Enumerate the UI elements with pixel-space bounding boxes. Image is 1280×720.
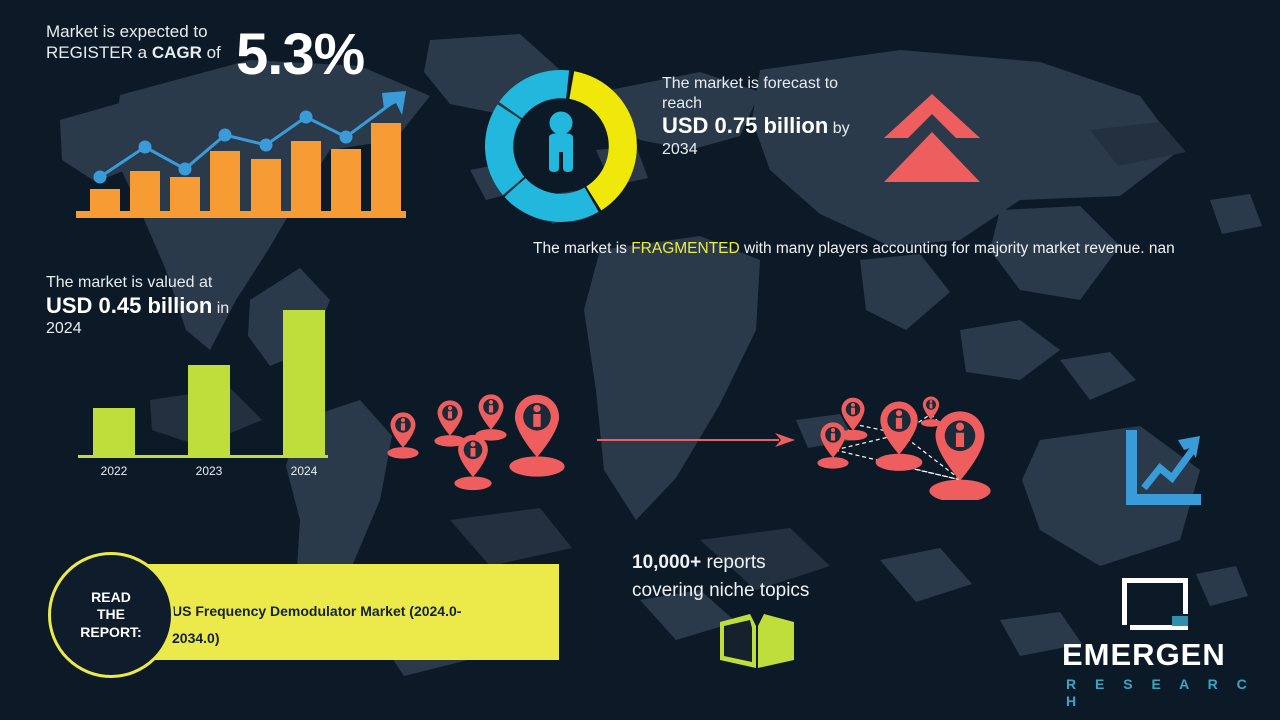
- growth-trend-bar-chart: [70, 85, 415, 225]
- map-pin-person-icon: [921, 396, 941, 426]
- map-pin-person-icon: [387, 412, 418, 458]
- bar-cap-2023: [188, 365, 230, 377]
- bar-label-2022: 2022: [84, 464, 144, 478]
- report-title: US Frequency Demodulator Market (2024.0-…: [172, 598, 502, 651]
- market-value-bar-chart: 2022 2023 2024: [78, 296, 338, 471]
- map-pin-person-icon: [475, 394, 506, 440]
- map-pin-person-icon: [454, 435, 491, 490]
- infographic-canvas: Market is expected to REGISTER a CAGR of…: [0, 0, 1280, 720]
- fragmentation-statement: The market is FRAGMENTED with many playe…: [533, 238, 1209, 260]
- bar-2023: [188, 377, 230, 456]
- reports-count: 10,000+: [632, 552, 701, 573]
- map-pin-person-icon: [434, 400, 465, 446]
- cagr-value: 5.3%: [236, 20, 364, 91]
- forecast-by-word: by: [833, 120, 850, 137]
- forecast-line-2: reach: [662, 94, 902, 114]
- forecast-value: USD 0.75 billion: [662, 113, 828, 138]
- market-share-donut: [466, 54, 656, 239]
- valuation-line-1: The market is valued at: [46, 273, 306, 293]
- bar-label-2023: 2023: [179, 464, 239, 478]
- line-chart-up-icon: [1122, 428, 1204, 510]
- cagr-line-2-post: of: [202, 43, 221, 62]
- logo-wordmark: EMERGEN: [1062, 636, 1226, 674]
- cagr-keyword: CAGR: [152, 43, 202, 62]
- forecast-caption: The market is forecast to reach USD 0.75…: [662, 74, 902, 159]
- fragmentation-pre: The market is: [533, 240, 631, 257]
- reports-line-2: covering niche topics: [632, 577, 892, 605]
- map-pin-person-icon: [929, 411, 990, 500]
- bar-label-2024: 2024: [274, 464, 334, 478]
- map-pin-person-icon: [509, 395, 564, 477]
- open-book-icon: [718, 610, 796, 672]
- growth-arrow-icon: [382, 91, 406, 115]
- reports-caption: 10,000+ reports covering niche topics: [632, 549, 892, 604]
- read-the-report-badge[interactable]: READTHEREPORT:: [48, 552, 174, 678]
- person-icon: [549, 112, 573, 173]
- bar-2024: [283, 322, 325, 456]
- right-arrow-icon: [597, 430, 797, 450]
- map-pin-person-icon: [876, 401, 923, 470]
- reports-line-1-rest: reports: [701, 552, 765, 573]
- square-bracket-logo-icon: [1122, 578, 1188, 630]
- read-the-report-label: READTHEREPORT:: [80, 589, 141, 642]
- fragmentation-keyword: FRAGMENTED: [631, 240, 740, 257]
- bar-2022: [93, 420, 135, 456]
- map-pin-network-right: [805, 388, 1020, 500]
- map-pin-cluster-left: [385, 388, 580, 493]
- forecast-year: 2034: [662, 140, 902, 160]
- map-pin-person-icon: [817, 422, 848, 468]
- double-chevron-up-icon: [884, 94, 980, 182]
- forecast-line-1: The market is forecast to: [662, 74, 902, 94]
- fragmentation-post: with many players accounting for majorit…: [740, 240, 1175, 257]
- logo-subtitle: R E S E A R C H: [1066, 676, 1280, 710]
- bar-cap-2024: [283, 310, 325, 322]
- cagr-line-2-pre: REGISTER a: [46, 43, 152, 62]
- bar-cap-2022: [93, 408, 135, 420]
